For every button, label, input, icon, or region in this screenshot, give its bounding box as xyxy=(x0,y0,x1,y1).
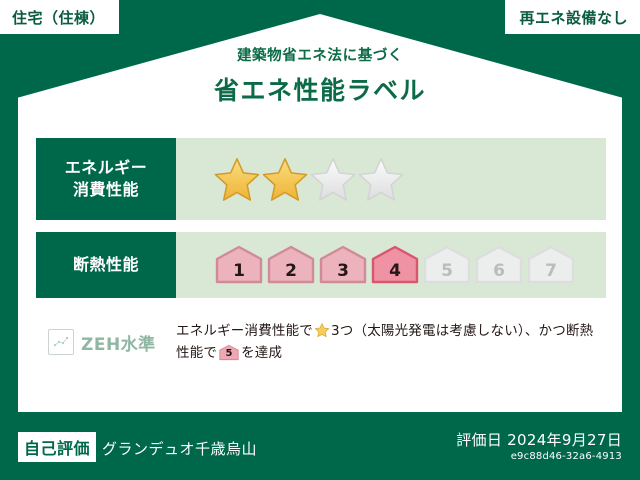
insulation-performance-row: 断熱性能 1234567 xyxy=(36,232,606,298)
star-empty-icon xyxy=(358,156,404,202)
title-main: 省エネ性能ラベル xyxy=(0,71,640,107)
zeh-badge: ZEH水準 xyxy=(36,329,176,355)
insulation-performance-label-text: 断熱性能 xyxy=(73,254,139,276)
energy-consumption-label: エネルギー 消費性能 xyxy=(36,138,176,220)
insulation-scale-wrap: 1234567 xyxy=(176,232,606,298)
footer-left: 自己評価 グランデュオ千歳烏山 xyxy=(18,432,257,462)
zeh-note-part3: を達成 xyxy=(241,345,282,361)
zeh-note-part1: エネルギー消費性能で xyxy=(176,323,313,339)
title-subtitle: 建築物省エネ法に基づく xyxy=(0,44,640,65)
insulation-level-1: 1 xyxy=(214,245,264,285)
insulation-level-3: 3 xyxy=(318,245,368,285)
insulation-level-4: 4 xyxy=(370,245,420,285)
insulation-level-number: 5 xyxy=(422,263,472,280)
insulation-level-number: 4 xyxy=(370,263,420,280)
energy-consumption-label-line1: エネルギー xyxy=(65,158,148,177)
scatter-square-icon xyxy=(48,329,74,355)
label-footer: 自己評価 グランデュオ千歳烏山 評価日 2024年9月27日 e9c88d46-… xyxy=(0,420,640,480)
energy-performance-label: 住宅（住棟） 再エネ設備なし 建築物省エネ法に基づく 省エネ性能ラベル エネルギ… xyxy=(0,0,640,480)
insulation-level-number: 3 xyxy=(318,263,368,280)
energy-consumption-label-line2: 消費性能 xyxy=(73,180,139,199)
insulation-level-number: 7 xyxy=(526,263,576,280)
building-type-tag-label: 住宅（住棟） xyxy=(12,7,105,28)
insulation-performance-label: 断熱性能 xyxy=(36,232,176,298)
energy-consumption-row: エネルギー 消費性能 xyxy=(36,138,606,220)
insulation-level-number: 6 xyxy=(474,263,524,280)
insulation-level-number: 1 xyxy=(214,263,264,280)
star-icon xyxy=(314,322,330,338)
star-filled-icon xyxy=(262,156,308,202)
building-type-tag: 住宅（住棟） xyxy=(0,0,119,34)
insulation-level-7: 7 xyxy=(526,245,576,285)
insulation-level-scale: 1234567 xyxy=(214,245,576,285)
house-icon-marker: 5 xyxy=(219,344,239,361)
insulation-level-6: 6 xyxy=(474,245,524,285)
zeh-note-area: ZEH水準 エネルギー消費性能で 3つ（太陽光発電は考慮しない）、かつ断熱性能で… xyxy=(36,320,606,365)
footer-right: 評価日 2024年9月27日 e9c88d46-32a6-4913 xyxy=(456,430,622,464)
evaluation-date: 評価日 2024年9月27日 xyxy=(456,430,622,450)
property-name: グランデュオ千歳烏山 xyxy=(102,438,257,459)
star-empty-icon xyxy=(310,156,356,202)
insulation-level-5: 5 xyxy=(422,245,472,285)
energy-star-rating xyxy=(176,138,606,220)
title-block: 建築物省エネ法に基づく 省エネ性能ラベル xyxy=(0,44,640,107)
insulation-level-number: 2 xyxy=(266,263,316,280)
house-icon-marker-number: 5 xyxy=(219,349,239,359)
star-filled-icon xyxy=(214,156,260,202)
zeh-note-text: エネルギー消費性能で 3つ（太陽光発電は考慮しない）、かつ断熱性能で 5 を達成 xyxy=(176,320,606,365)
zeh-label: ZEH水準 xyxy=(81,330,156,355)
renewable-energy-tag: 再エネ設備なし xyxy=(505,0,640,34)
self-evaluation-badge: 自己評価 xyxy=(18,432,96,462)
insulation-level-2: 2 xyxy=(266,245,316,285)
renewable-energy-tag-label: 再エネ設備なし xyxy=(519,7,628,28)
label-id: e9c88d46-32a6-4913 xyxy=(456,450,622,464)
